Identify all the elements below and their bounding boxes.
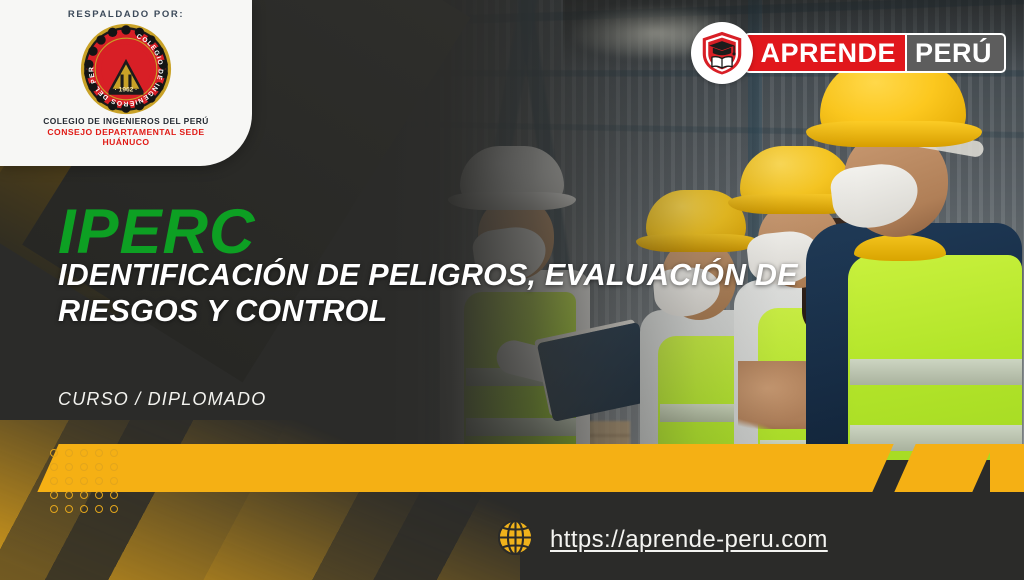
grid-dot xyxy=(50,463,58,471)
brand-word-aprende: APRENDE xyxy=(746,35,905,71)
headline-kicker: CURSO / DIPLOMADO xyxy=(58,389,266,410)
org-line-2: CONSEJO DEPARTAMENTAL SEDE xyxy=(43,127,209,137)
website-link[interactable]: https://aprende-peru.com xyxy=(498,520,828,560)
graduation-shield-icon xyxy=(691,22,753,84)
org-line-3: HUÁNUCO xyxy=(43,137,209,147)
grid-dot xyxy=(80,477,88,485)
yellow-band-main xyxy=(37,444,893,492)
dot-grid-decoration xyxy=(50,449,125,519)
cip-seal-icon: · 1962 · COLEGIO DE INGENIEROS DEL PERU xyxy=(80,23,172,115)
headline-subtitle: IDENTIFICACIÓN DE PELIGROS, EVALUACIÓN D… xyxy=(58,258,888,330)
grid-dot xyxy=(65,505,73,513)
grid-dot xyxy=(110,463,118,471)
grid-dot xyxy=(110,449,118,457)
grid-dot xyxy=(95,505,103,513)
grid-dot xyxy=(50,449,58,457)
aprende-peru-logo[interactable]: APRENDE PERÚ xyxy=(691,22,1006,84)
headline-acronym: IPERC xyxy=(58,201,256,264)
yellow-band-corner xyxy=(990,444,1024,492)
grid-dot xyxy=(65,463,73,471)
grid-dot xyxy=(80,491,88,499)
aprende-peru-wordmark: APRENDE PERÚ xyxy=(744,33,1006,73)
grid-dot xyxy=(65,477,73,485)
grid-dot xyxy=(50,505,58,513)
endorsement-card: RESPALDADO POR: xyxy=(0,0,252,166)
grid-dot xyxy=(95,491,103,499)
grid-dot xyxy=(110,505,118,513)
grid-dot xyxy=(95,449,103,457)
endorsement-org-text: COLEGIO DE INGENIEROS DEL PERÚ CONSEJO D… xyxy=(43,117,209,147)
grid-dot xyxy=(80,505,88,513)
grid-dot xyxy=(80,463,88,471)
grid-dot xyxy=(65,491,73,499)
org-line-1: COLEGIO DE INGENIEROS DEL PERÚ xyxy=(43,117,209,127)
grid-dot xyxy=(50,477,58,485)
grid-dot xyxy=(95,463,103,471)
grid-dot xyxy=(50,491,58,499)
endorsement-heading: RESPALDADO POR: xyxy=(68,9,184,20)
grid-dot xyxy=(110,477,118,485)
brand-word-peru: PERÚ xyxy=(905,35,1004,71)
website-url-text[interactable]: https://aprende-peru.com xyxy=(550,526,828,554)
grid-dot xyxy=(95,477,103,485)
promo-banner: RESPALDADO POR: xyxy=(0,0,1024,580)
svg-text:· 1962 ·: · 1962 · xyxy=(115,87,138,94)
grid-dot xyxy=(110,491,118,499)
globe-icon xyxy=(498,520,533,560)
grid-dot xyxy=(65,449,73,457)
grid-dot xyxy=(80,449,88,457)
